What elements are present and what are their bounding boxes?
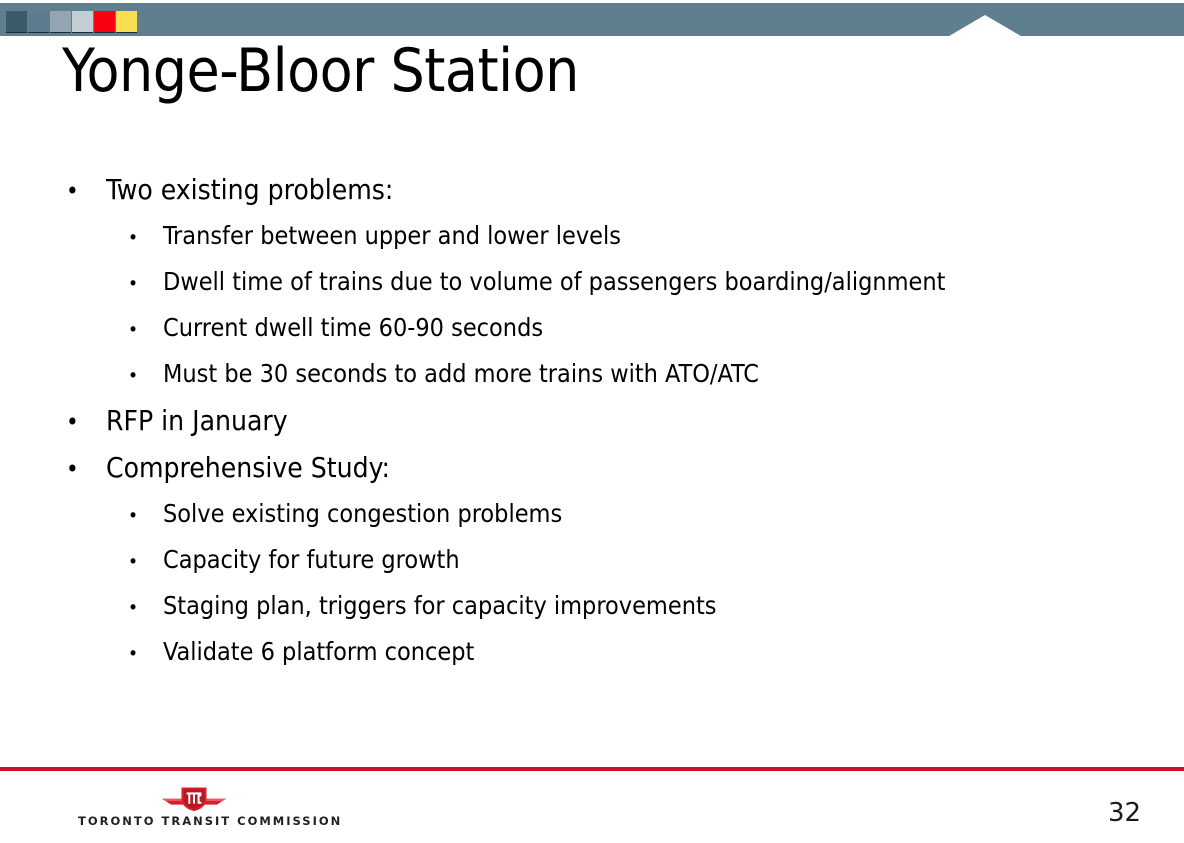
bullet-text: Staging plan, triggers for capacity impr… bbox=[163, 593, 716, 618]
bullet-marker-icon: • bbox=[128, 645, 163, 664]
bullet-text: Dwell time of trains due to volume of pa… bbox=[163, 269, 945, 294]
bullet-text: Capacity for future growth bbox=[163, 547, 460, 572]
bullet-marker-icon: • bbox=[128, 321, 163, 340]
bullet-text: Solve existing congestion problems bbox=[163, 501, 562, 526]
bullet-item-level-2: •Solve existing congestion problems bbox=[0, 501, 1184, 547]
bullet-item-level-2: •Capacity for future growth bbox=[0, 547, 1184, 593]
bullet-item-level-2: •Validate 6 platform concept bbox=[0, 639, 1184, 685]
bullet-text: Current dwell time 60-90 seconds bbox=[163, 315, 543, 340]
bullet-marker-icon: • bbox=[128, 367, 163, 386]
swatch-red bbox=[94, 11, 115, 33]
swatch-light-blue-gray bbox=[50, 11, 71, 33]
bullet-item-level-1: •RFP in January bbox=[0, 407, 1184, 454]
ttc-wordmark: TORONTO TRANSIT COMMISSION bbox=[78, 814, 310, 828]
header-notch-triangle bbox=[944, 15, 1026, 39]
bullet-item-level-2: •Staging plan, triggers for capacity imp… bbox=[0, 593, 1184, 639]
bullet-item-level-2: •Must be 30 seconds to add more trains w… bbox=[0, 361, 1184, 407]
bullet-marker-icon: • bbox=[128, 599, 163, 618]
swatch-dark-slate bbox=[6, 11, 27, 33]
bullet-marker-icon: • bbox=[128, 553, 163, 572]
bullet-text: Two existing problems: bbox=[106, 176, 393, 204]
header-band bbox=[0, 3, 1184, 36]
ttc-emblem-icon bbox=[160, 786, 228, 812]
bullet-marker-icon: • bbox=[128, 507, 163, 526]
bullet-marker-icon: • bbox=[66, 410, 106, 434]
bullet-text: RFP in January bbox=[106, 407, 288, 435]
swatch-pale-gray-blue bbox=[72, 11, 93, 33]
slide-title: Yonge-Bloor Station bbox=[62, 40, 579, 103]
bullet-text: Transfer between upper and lower levels bbox=[163, 223, 621, 248]
swatch-medium-slate bbox=[28, 11, 49, 33]
bullet-item-level-2: •Transfer between upper and lower levels bbox=[0, 223, 1184, 269]
slide-canvas: Yonge-Bloor Station •Two existing proble… bbox=[0, 0, 1184, 843]
bullet-item-level-2: •Current dwell time 60-90 seconds bbox=[0, 315, 1184, 361]
bullet-item-level-1: •Two existing problems: bbox=[0, 176, 1184, 223]
bullet-text: Validate 6 platform concept bbox=[163, 639, 474, 664]
bullet-marker-icon: • bbox=[128, 229, 163, 248]
ttc-logo: TORONTO TRANSIT COMMISSION bbox=[78, 786, 310, 828]
bullet-item-level-1: •Comprehensive Study: bbox=[0, 454, 1184, 501]
bullet-marker-icon: • bbox=[128, 275, 163, 294]
page-number: 32 bbox=[1108, 798, 1141, 828]
bullet-list: •Two existing problems:•Transfer between… bbox=[0, 176, 1184, 685]
footer-divider-rule bbox=[0, 767, 1184, 771]
swatch-yellow bbox=[116, 11, 137, 33]
bullet-marker-icon: • bbox=[66, 457, 106, 481]
color-swatch-strip bbox=[6, 11, 137, 33]
bullet-text: Must be 30 seconds to add more trains wi… bbox=[163, 361, 759, 386]
bullet-text: Comprehensive Study: bbox=[106, 454, 390, 482]
bullet-item-level-2: •Dwell time of trains due to volume of p… bbox=[0, 269, 1184, 315]
bullet-marker-icon: • bbox=[66, 179, 106, 203]
